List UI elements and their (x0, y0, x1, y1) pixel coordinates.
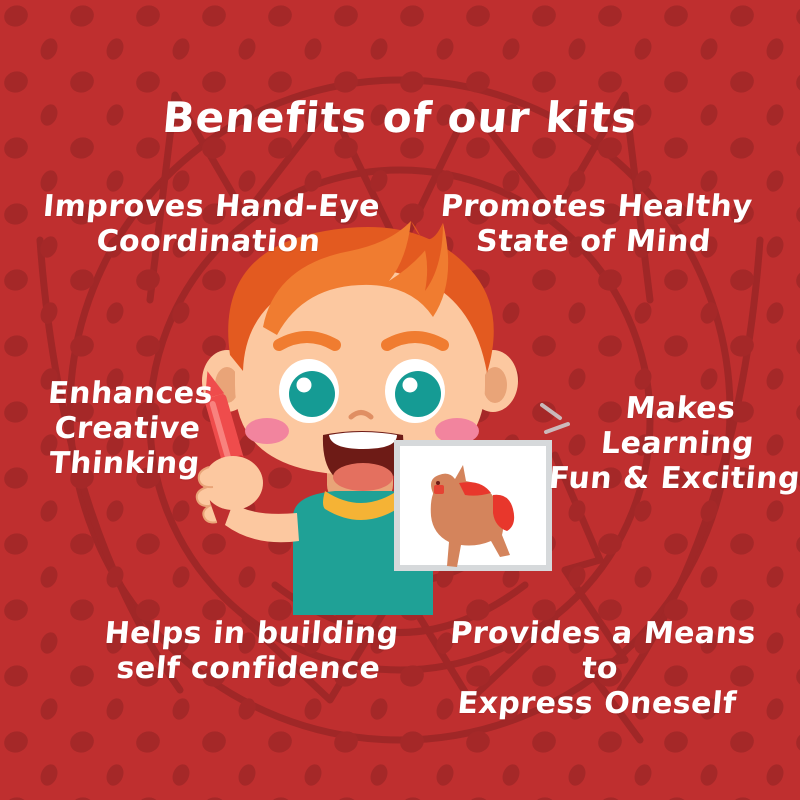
benefit-line: Promotes Healthy (430, 190, 763, 225)
benefit-line: Makes Learning (543, 392, 800, 462)
right-eye (385, 359, 445, 423)
benefit-line: Provides a Means to (428, 617, 774, 687)
left-eye (279, 359, 339, 423)
poster-canvas: Benefits of our kits Improves Hand-Eye C… (0, 0, 800, 800)
benefit-line: Creative (18, 412, 236, 447)
benefit-line: Express Oneself (425, 687, 768, 722)
benefit-line: Thinking (15, 447, 233, 482)
benefit-line: Coordination (37, 225, 380, 260)
benefit-helps-in-building-self-confidence: Helps in building self confidence (82, 617, 418, 687)
benefit-line: Enhances (22, 377, 240, 412)
left-cheek (245, 418, 289, 444)
benefit-line: Improves Hand-Eye (40, 190, 383, 225)
benefit-makes-learning-fun-exciting: Makes Learning Fun & Exciting (540, 392, 800, 496)
benefit-line: Fun & Exciting (540, 462, 800, 497)
benefit-enhances-creative-thinking: Enhances Creative Thinking (15, 377, 239, 481)
drawing-paper (397, 443, 549, 568)
benefit-promotes-healthy-state-of-mind: Promotes Healthy State of Mind (427, 190, 763, 260)
benefit-line: State of Mind (427, 225, 760, 260)
benefit-line: self confidence (82, 652, 415, 687)
benefit-line: Helps in building (85, 617, 418, 652)
benefit-improves-hand-eye-coordination: Improves Hand-Eye Coordination (37, 190, 383, 260)
benefit-provides-a-means-to-express-oneself: Provides a Means to Express Oneself (425, 617, 774, 721)
page-title: Benefits of our kits (0, 95, 800, 141)
